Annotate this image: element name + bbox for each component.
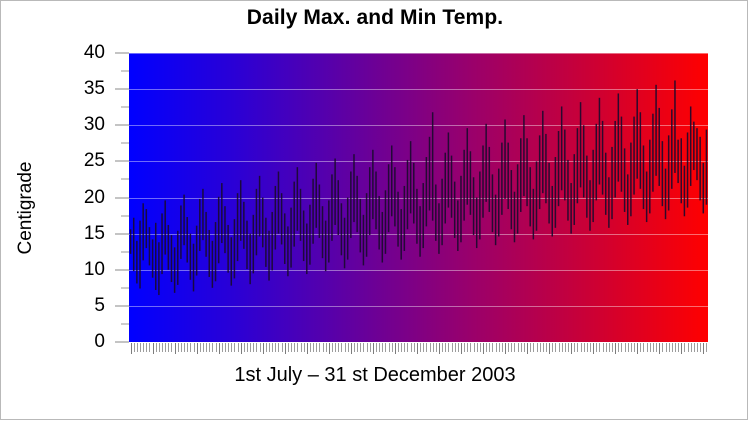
x-axis-tick-mark bbox=[647, 343, 648, 352]
x-axis-tick-mark bbox=[555, 343, 556, 352]
x-axis-tick-mark bbox=[225, 343, 226, 352]
y-axis-minor-tick bbox=[121, 251, 129, 252]
x-axis-tick-mark bbox=[335, 343, 336, 352]
x-axis-tick-mark bbox=[486, 343, 487, 352]
y-axis-tick-mark bbox=[115, 342, 129, 343]
x-axis-tick-mark bbox=[621, 343, 622, 352]
x-axis-tick-mark bbox=[656, 343, 657, 352]
y-axis-tick-label: 5 bbox=[94, 295, 105, 317]
x-axis-tick-mark bbox=[514, 343, 515, 352]
x-axis-tick-mark bbox=[256, 343, 257, 352]
x-axis-tick-mark bbox=[385, 343, 386, 352]
x-axis-tick-mark bbox=[581, 343, 582, 352]
x-axis-tick-mark bbox=[666, 343, 667, 352]
x-axis-tick-mark bbox=[143, 343, 144, 352]
x-axis-tick-mark bbox=[244, 343, 245, 352]
x-axis-tick-mark bbox=[187, 343, 188, 352]
y-axis-tick-label: 10 bbox=[84, 259, 105, 281]
x-axis-tick-mark bbox=[407, 343, 408, 352]
x-axis-tick-mark bbox=[480, 343, 481, 352]
x-axis-tick-mark bbox=[175, 343, 176, 354]
x-axis-tick-mark bbox=[694, 343, 695, 352]
x-axis-tick-mark bbox=[445, 343, 446, 352]
x-axis-tick-mark bbox=[253, 343, 254, 352]
x-axis-tick-mark bbox=[159, 343, 160, 352]
x-axis-tick-mark bbox=[200, 343, 201, 352]
x-axis-tick-mark bbox=[672, 343, 673, 352]
x-axis-tick-mark bbox=[474, 343, 475, 352]
y-axis-minor-tick bbox=[121, 179, 129, 180]
x-axis-tick-mark bbox=[140, 343, 141, 352]
x-axis-tick-mark bbox=[508, 343, 509, 352]
x-axis-tick-mark bbox=[430, 343, 431, 352]
y-axis-tick-label: 15 bbox=[84, 223, 105, 245]
x-axis-tick-mark bbox=[131, 343, 132, 354]
x-axis-tick-mark bbox=[628, 343, 629, 352]
x-axis-tick-mark bbox=[310, 343, 311, 352]
x-axis-tick-mark bbox=[552, 343, 553, 352]
x-axis-tick-mark bbox=[637, 343, 638, 354]
x-axis-tick-mark bbox=[455, 343, 456, 352]
x-axis-tick-mark bbox=[206, 343, 207, 352]
x-axis-tick-mark bbox=[301, 343, 302, 352]
x-axis-tick-mark bbox=[492, 343, 493, 352]
x-axis-tick-mark bbox=[156, 343, 157, 352]
x-axis-tick-mark bbox=[499, 343, 500, 352]
x-axis-tick-mark bbox=[634, 343, 635, 352]
x-axis-tick-mark bbox=[684, 343, 685, 352]
chart-frame: Daily Max. and Min Temp. 051015202530354… bbox=[0, 0, 748, 420]
y-axis-tick-mark bbox=[115, 125, 129, 126]
x-axis-tick-mark bbox=[461, 343, 462, 354]
y-axis-tick-label: 40 bbox=[84, 42, 105, 64]
x-axis-tick-mark bbox=[351, 343, 352, 354]
x-axis-tick-mark bbox=[603, 343, 604, 352]
y-axis-minor-tick bbox=[121, 143, 129, 144]
x-axis-tick-mark bbox=[606, 343, 607, 352]
x-axis-tick-mark bbox=[153, 343, 154, 354]
x-axis-tick-mark bbox=[216, 343, 217, 352]
x-axis-tick-mark bbox=[559, 343, 560, 352]
x-axis-tick-mark bbox=[659, 343, 660, 354]
x-axis-tick-mark bbox=[294, 343, 295, 352]
x-axis-tick-mark bbox=[562, 343, 563, 352]
x-axis-tick-mark bbox=[272, 343, 273, 352]
x-axis-tick-mark bbox=[149, 343, 150, 352]
x-axis-tick-mark bbox=[194, 343, 195, 352]
x-axis-tick-mark bbox=[518, 343, 519, 352]
x-axis-tick-mark bbox=[373, 343, 374, 354]
x-axis-tick-mark bbox=[489, 343, 490, 352]
x-axis-tick-mark bbox=[543, 343, 544, 352]
x-axis-tick-mark bbox=[675, 343, 676, 352]
x-axis-tick-mark bbox=[146, 343, 147, 352]
y-axis-minor-tick bbox=[121, 107, 129, 108]
x-axis-tick-mark bbox=[448, 343, 449, 352]
x-axis-tick-mark bbox=[584, 343, 585, 352]
x-axis-tick-mark bbox=[404, 343, 405, 352]
x-axis-tick-mark bbox=[379, 343, 380, 352]
x-axis-tick-mark bbox=[313, 343, 314, 352]
x-axis-tick-mark bbox=[609, 343, 610, 352]
y-axis-tick-mark bbox=[115, 233, 129, 234]
x-axis-tick-mark bbox=[596, 343, 597, 352]
y-axis-tick-mark bbox=[115, 305, 129, 306]
y-axis-tick-mark bbox=[115, 89, 129, 90]
x-axis-tick-mark bbox=[178, 343, 179, 352]
x-axis-tick-mark bbox=[395, 343, 396, 354]
x-axis-tick-mark bbox=[288, 343, 289, 352]
x-axis-tick-mark bbox=[370, 343, 371, 352]
x-axis-tick-mark bbox=[703, 343, 704, 354]
x-axis-tick-mark bbox=[549, 343, 550, 354]
x-axis-tick-mark bbox=[212, 343, 213, 352]
x-axis-tick-mark bbox=[363, 343, 364, 352]
plot-area bbox=[129, 53, 708, 342]
x-axis-tick-mark bbox=[263, 343, 264, 354]
x-axis-tick-mark bbox=[238, 343, 239, 352]
x-axis-tick-mark bbox=[285, 343, 286, 354]
x-axis-tick-mark bbox=[266, 343, 267, 352]
x-axis-tick-mark bbox=[615, 343, 616, 354]
x-axis-tick-mark bbox=[662, 343, 663, 352]
x-axis-tick-mark bbox=[423, 343, 424, 352]
x-axis-tick-mark bbox=[527, 343, 528, 354]
y-axis-minor-tick bbox=[121, 323, 129, 324]
x-axis-tick-mark bbox=[307, 343, 308, 354]
x-axis-tick-mark bbox=[304, 343, 305, 352]
y-axis-minor-tick bbox=[121, 215, 129, 216]
x-axis-tick-mark bbox=[411, 343, 412, 352]
x-axis-tick-mark bbox=[219, 343, 220, 354]
x-axis-tick-mark bbox=[297, 343, 298, 352]
x-axis-tick-mark bbox=[241, 343, 242, 354]
x-axis-tick-mark bbox=[511, 343, 512, 352]
x-axis-tick-mark bbox=[367, 343, 368, 352]
x-axis-tick-mark bbox=[433, 343, 434, 352]
x-axis-tick-mark bbox=[376, 343, 377, 352]
x-axis-tick-mark bbox=[426, 343, 427, 352]
x-axis-title: 1st July – 31 st December 2003 bbox=[1, 364, 749, 387]
x-axis-tick-mark bbox=[260, 343, 261, 352]
x-axis-tick-mark bbox=[203, 343, 204, 352]
x-axis-tick-mark bbox=[467, 343, 468, 352]
x-axis-tick-mark bbox=[165, 343, 166, 352]
x-axis-tick-mark bbox=[691, 343, 692, 352]
x-axis-tick-mark bbox=[389, 343, 390, 352]
x-axis-tick-mark bbox=[382, 343, 383, 352]
x-axis-tick-mark bbox=[568, 343, 569, 352]
x-axis-tick-mark bbox=[599, 343, 600, 352]
x-axis-tick-mark bbox=[250, 343, 251, 352]
y-axis-minor-tick bbox=[121, 287, 129, 288]
temperature-range-bars bbox=[129, 53, 708, 342]
x-axis-tick-mark bbox=[282, 343, 283, 352]
x-axis-tick-mark bbox=[505, 343, 506, 354]
x-axis-tick-mark bbox=[275, 343, 276, 352]
x-axis-tick-mark bbox=[643, 343, 644, 352]
x-axis-tick-mark bbox=[590, 343, 591, 352]
x-axis-tick-mark bbox=[442, 343, 443, 352]
x-axis-tick-mark bbox=[345, 343, 346, 352]
x-axis-tick-mark bbox=[338, 343, 339, 352]
x-axis-tick-mark bbox=[458, 343, 459, 352]
x-axis-tick-mark bbox=[631, 343, 632, 352]
x-axis-tick-mark bbox=[278, 343, 279, 352]
x-axis-tick-mark bbox=[706, 343, 707, 352]
x-axis-tick-mark bbox=[348, 343, 349, 352]
x-axis-tick-mark bbox=[618, 343, 619, 352]
x-axis-tick-mark bbox=[168, 343, 169, 352]
x-axis-tick-mark bbox=[269, 343, 270, 352]
x-axis-tick-mark bbox=[571, 343, 572, 354]
x-axis-tick-mark bbox=[439, 343, 440, 354]
x-axis-tick-mark bbox=[650, 343, 651, 352]
y-axis-tick-label: 25 bbox=[84, 150, 105, 172]
x-axis-tick-mark bbox=[222, 343, 223, 352]
x-axis-tick-mark bbox=[587, 343, 588, 352]
x-axis-tick-mark bbox=[360, 343, 361, 352]
y-axis-tick-label: 0 bbox=[94, 331, 105, 353]
x-axis-tick-mark bbox=[420, 343, 421, 352]
x-axis-tick-mark bbox=[247, 343, 248, 352]
x-axis-tick-mark bbox=[417, 343, 418, 354]
x-axis-tick-mark bbox=[209, 343, 210, 352]
x-axis-tick-mark bbox=[231, 343, 232, 352]
x-axis-tick-mark bbox=[401, 343, 402, 352]
x-axis-tick-mark bbox=[593, 343, 594, 354]
y-axis-tick-label: 35 bbox=[84, 78, 105, 100]
x-axis-tick-mark bbox=[323, 343, 324, 352]
x-axis-tick-mark bbox=[134, 343, 135, 352]
x-axis-tick-mark bbox=[653, 343, 654, 352]
y-axis-tick-label: 20 bbox=[84, 187, 105, 209]
x-axis-tick-mark bbox=[190, 343, 191, 352]
y-axis-minor-tick bbox=[121, 71, 129, 72]
x-axis-tick-mark bbox=[700, 343, 701, 352]
y-axis-title: Centigrade bbox=[15, 128, 37, 288]
y-axis-tick-mark bbox=[115, 53, 129, 54]
x-axis-tick-mark bbox=[197, 343, 198, 354]
x-axis-tick-mark bbox=[329, 343, 330, 354]
x-axis-tick-mark bbox=[398, 343, 399, 352]
x-axis-tick-mark bbox=[565, 343, 566, 352]
y-axis-tick-mark bbox=[115, 269, 129, 270]
x-axis-tick-mark bbox=[688, 343, 689, 352]
y-axis-tick-mark bbox=[115, 197, 129, 198]
x-axis-tick-mark bbox=[612, 343, 613, 352]
x-axis-tick-mark bbox=[681, 343, 682, 354]
x-axis-tick-mark bbox=[483, 343, 484, 354]
x-axis-tick-mark bbox=[640, 343, 641, 352]
x-axis-tick-mark bbox=[354, 343, 355, 352]
x-axis-tick-mark bbox=[577, 343, 578, 352]
x-axis-tick-mark bbox=[678, 343, 679, 352]
x-axis-tick-mark bbox=[392, 343, 393, 352]
x-axis-tick-mark bbox=[171, 343, 172, 352]
x-axis-tick-mark bbox=[533, 343, 534, 352]
x-axis-tick-mark bbox=[537, 343, 538, 352]
x-axis-tick-mark bbox=[625, 343, 626, 352]
x-axis-tick-mark bbox=[477, 343, 478, 352]
x-axis-tick-mark bbox=[234, 343, 235, 352]
x-axis-tick-mark bbox=[452, 343, 453, 352]
x-axis-tick-mark bbox=[228, 343, 229, 352]
x-axis-tick-mark bbox=[137, 343, 138, 352]
x-axis-tick-mark bbox=[184, 343, 185, 352]
x-axis-tick-mark bbox=[669, 343, 670, 352]
x-axis-tick-mark bbox=[464, 343, 465, 352]
x-axis-tick-mark bbox=[530, 343, 531, 352]
x-axis-tick-mark bbox=[341, 343, 342, 352]
x-axis-tick-mark bbox=[291, 343, 292, 352]
x-axis-tick-mark bbox=[319, 343, 320, 352]
x-axis-tick-mark bbox=[574, 343, 575, 352]
x-axis-tick-mark bbox=[546, 343, 547, 352]
y-axis-tick-label: 30 bbox=[84, 114, 105, 136]
x-axis-tick-mark bbox=[414, 343, 415, 352]
x-axis-ticks bbox=[129, 343, 708, 354]
x-axis-tick-mark bbox=[181, 343, 182, 352]
x-axis-tick-mark bbox=[436, 343, 437, 352]
x-axis-tick-mark bbox=[697, 343, 698, 352]
x-axis-tick-mark bbox=[524, 343, 525, 352]
x-axis-tick-mark bbox=[502, 343, 503, 352]
x-axis-tick-mark bbox=[496, 343, 497, 352]
x-axis-tick-mark bbox=[326, 343, 327, 352]
x-axis-tick-mark bbox=[357, 343, 358, 352]
x-axis-tick-mark bbox=[470, 343, 471, 352]
x-axis-tick-mark bbox=[521, 343, 522, 352]
x-axis-tick-mark bbox=[540, 343, 541, 352]
x-axis-tick-mark bbox=[162, 343, 163, 352]
x-axis-tick-mark bbox=[316, 343, 317, 352]
y-axis-tick-mark bbox=[115, 161, 129, 162]
x-axis-tick-mark bbox=[332, 343, 333, 352]
